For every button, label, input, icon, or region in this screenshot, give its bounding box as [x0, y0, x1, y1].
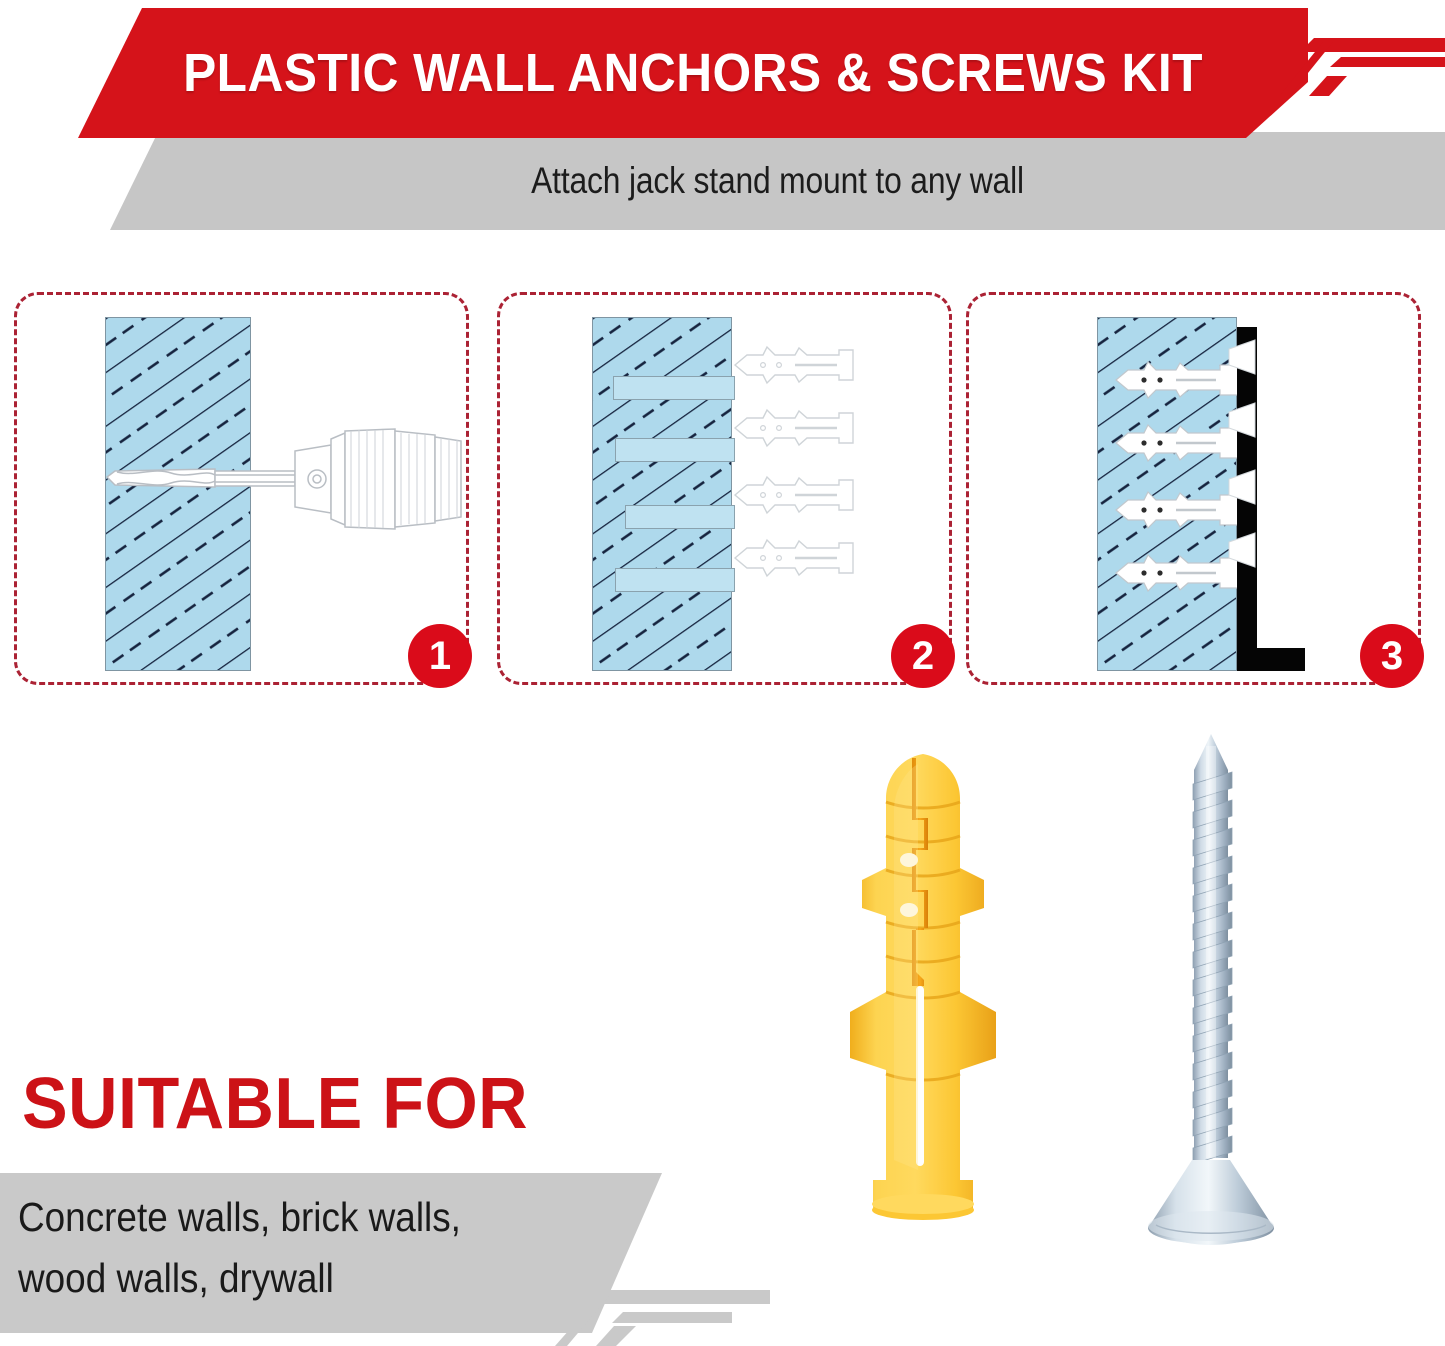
header-decor-stripe-2-icon: [1330, 57, 1445, 67]
anchor-icon: [733, 475, 863, 515]
suitable-for-line-1: Concrete walls, brick walls,: [18, 1187, 558, 1248]
step-card-2: 2: [497, 292, 952, 685]
footer-decor-stripe-1-icon: [590, 1290, 770, 1304]
wall-cross-section: [592, 317, 732, 671]
drilled-hole: [625, 505, 735, 529]
screw-head-group-icon: [1225, 317, 1273, 671]
header-decor-slash-2-icon: [1309, 76, 1347, 96]
suitable-for-heading: SUITABLE FOR: [22, 1063, 528, 1145]
header-subtitle: Attach jack stand mount to any wall: [203, 132, 1351, 230]
anchor-icon: [733, 408, 863, 448]
wall-hatch-pattern-icon: [593, 318, 731, 670]
installation-steps: 1: [0, 292, 1445, 692]
step-badge-3: 3: [1360, 624, 1424, 688]
suitable-for-list: Concrete walls, brick walls, wood walls,…: [18, 1187, 558, 1309]
step-badge-1: 1: [408, 624, 472, 688]
product-infographic: Attach jack stand mount to any wall PLAS…: [0, 0, 1445, 1346]
footer-decor-stripe-2-icon: [612, 1312, 732, 1323]
page-title: PLASTIC WALL ANCHORS & SCREWS KIT: [127, 8, 1259, 138]
step-card-1: 1: [14, 292, 469, 685]
step-badge-2: 2: [891, 624, 955, 688]
drilled-hole: [615, 438, 735, 462]
anchor-icon: [733, 538, 863, 578]
drill-icon: [95, 415, 467, 545]
drilled-hole: [613, 376, 735, 400]
step-card-3: 3: [966, 292, 1421, 685]
drilled-hole: [615, 568, 735, 592]
header-section: Attach jack stand mount to any wall PLAS…: [0, 0, 1445, 240]
wall-cross-section: [1097, 317, 1237, 671]
suitable-for-line-2: wood walls, drywall: [18, 1248, 558, 1309]
anchor-icon: [733, 345, 863, 385]
